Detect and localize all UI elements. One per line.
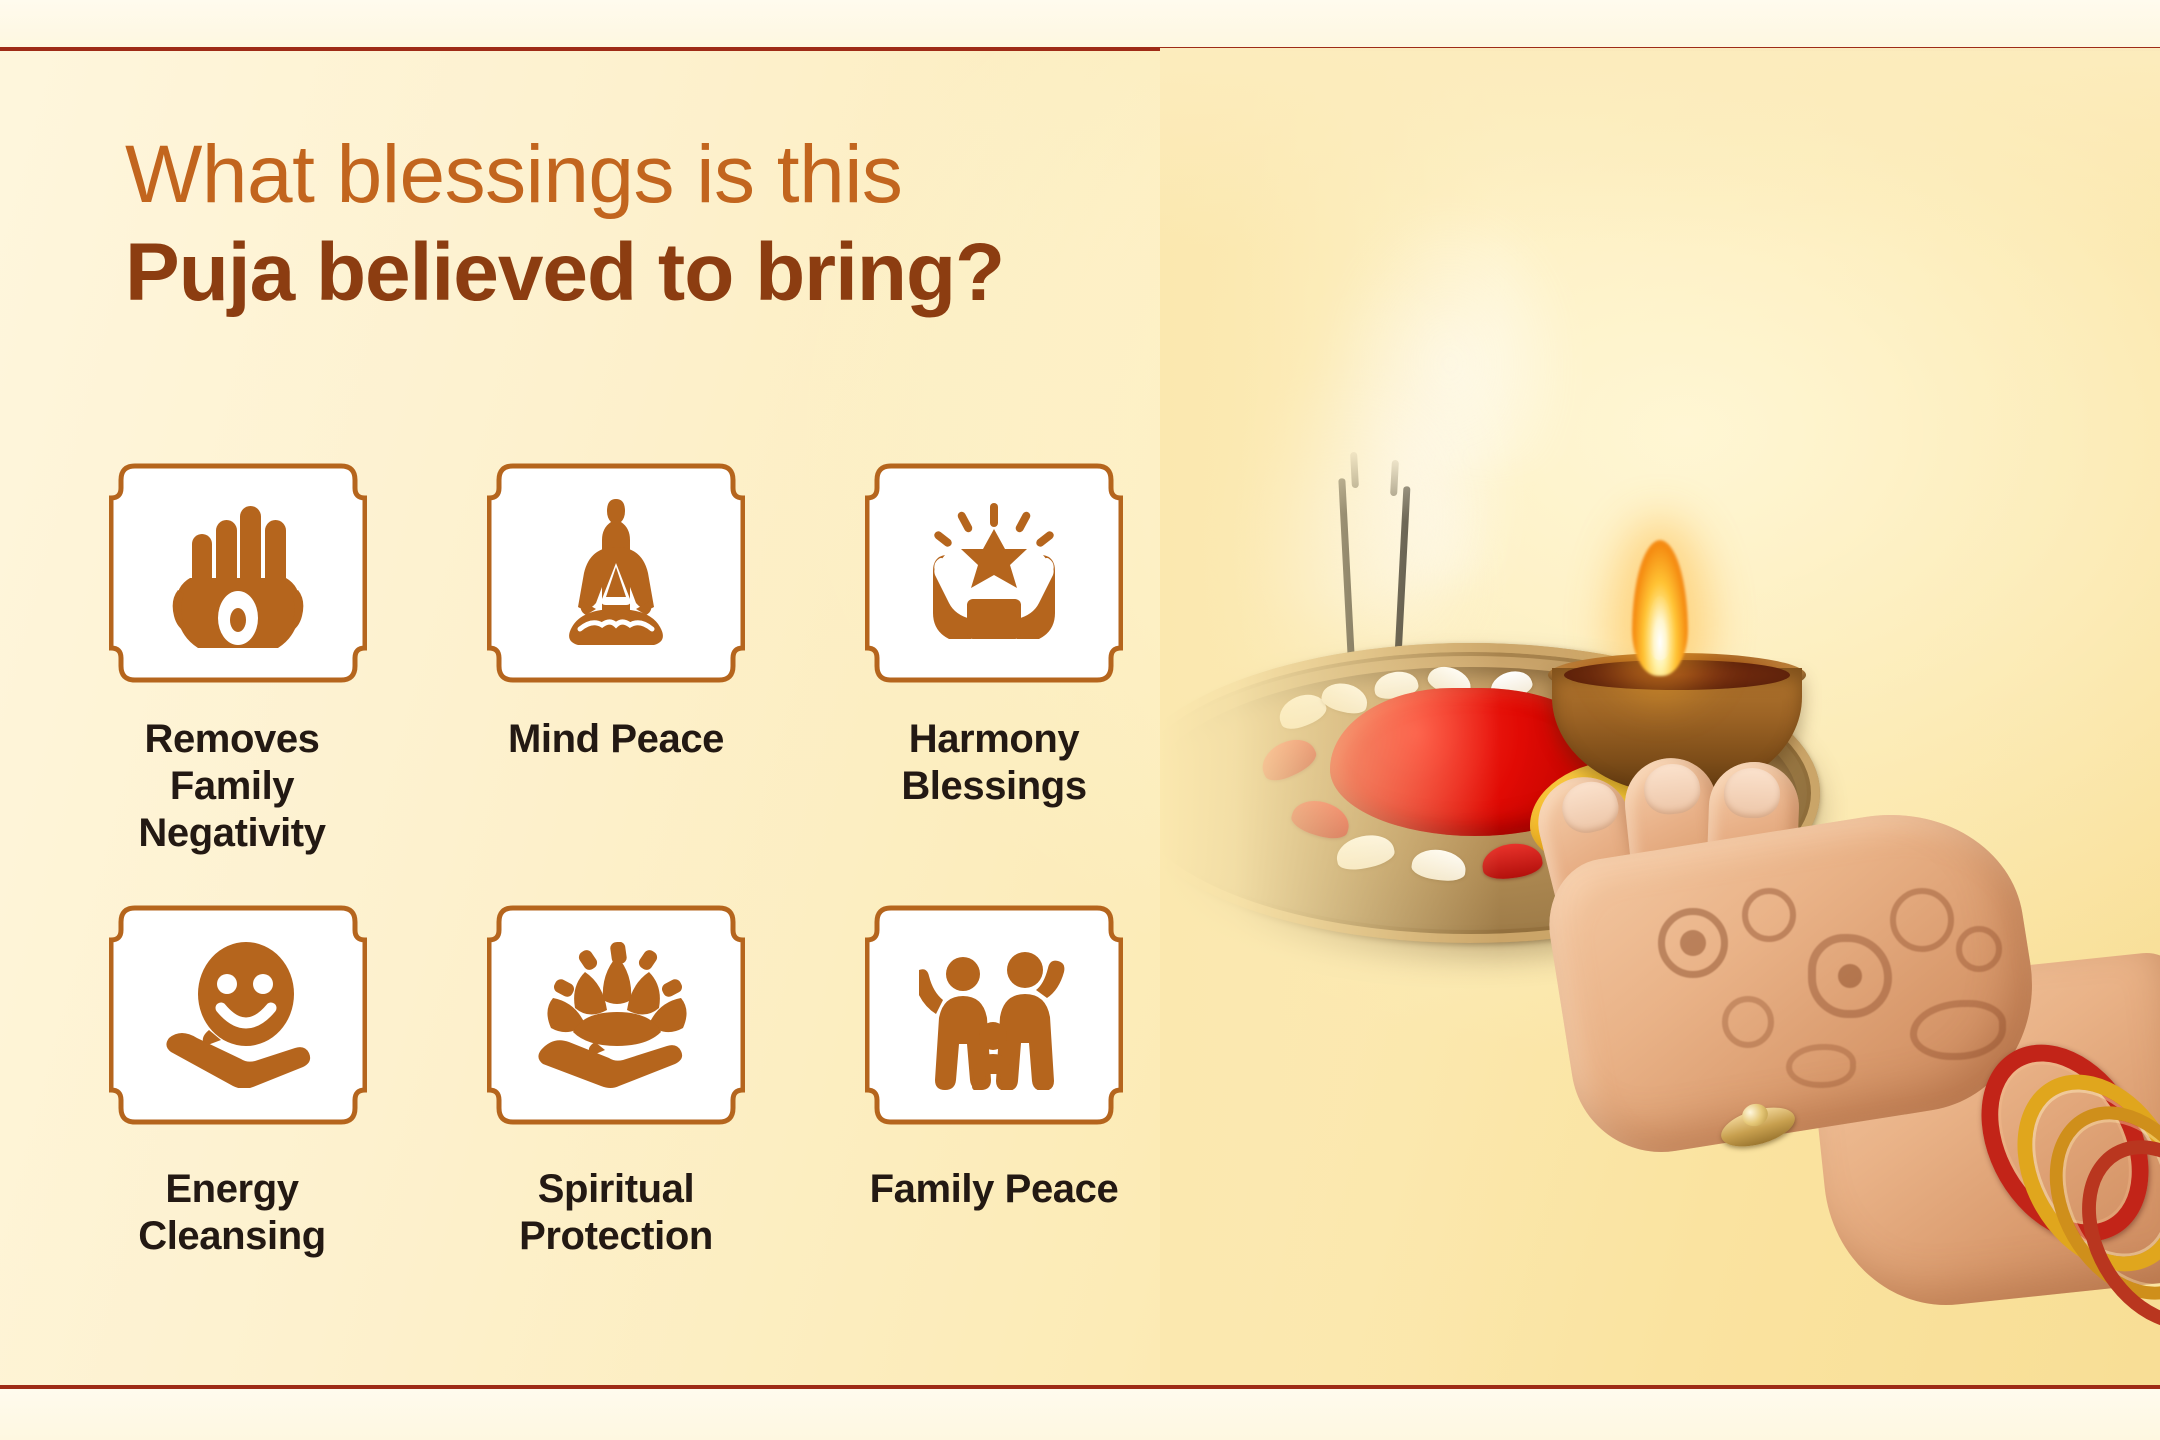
benefit-label: Harmony Blessings [844,716,1144,810]
henna-motif [1786,1044,1856,1088]
henna-motif [1722,996,1774,1048]
incense-stick-tip [1350,452,1359,488]
benefit-label: Spiritual Protection [466,1166,766,1260]
card-wrapper [486,452,746,694]
photo-top-fade [1160,48,2160,248]
hands-holding-star-icon [865,452,1123,694]
benefit-item-energy-cleansing[interactable]: Energy Cleansing [108,894,486,1260]
benefit-label: Family Peace [844,1166,1144,1213]
smiling-face-in-hand-icon [109,894,367,1136]
card-wrapper [864,894,1124,1136]
benefit-label: Energy Cleansing [82,1166,382,1260]
card-wrapper [108,452,368,694]
benefit-item-spiritual-protection[interactable]: Spiritual Protection [486,894,864,1260]
poster-canvas: What blessings is this Puja believed to … [0,0,2160,1440]
henna-motif [1838,964,1862,988]
icon-card [109,452,367,694]
icon-card [865,894,1123,1136]
benefits-grid: Removes Family Negativity [108,452,1178,1260]
incense-smoke [1270,275,1520,601]
incense-stick-tip [1390,460,1399,496]
henna-motif [1890,888,1954,952]
meditating-person-icon [487,452,745,694]
benefit-label: Removes Family Negativity [82,716,382,858]
benefit-item-mind-peace[interactable]: Mind Peace [486,452,864,858]
henna-decorated-hand [1390,738,2160,1389]
henna-motif [1956,926,2002,972]
lotus-in-hand-icon [487,894,745,1136]
henna-motif [1742,888,1796,942]
icon-card [487,452,745,694]
card-wrapper [108,894,368,1136]
icon-card [487,894,745,1136]
fingernail [1723,767,1781,819]
title-line-1: What blessings is this [125,132,1175,219]
card-wrapper [486,894,746,1136]
hamsa-hand-icon [109,452,367,694]
icon-card [109,894,367,1136]
family-figures-icon [865,894,1123,1136]
bottom-margin-band [0,1389,2160,1440]
benefit-label: Mind Peace [466,716,766,763]
puja-thali-in-henna-hand-photo [1160,48,2160,1389]
left-content-column: What blessings is this Puja believed to … [0,0,1230,1440]
page-title: What blessings is this Puja believed to … [125,132,1175,322]
benefit-item-removes-family-negativity[interactable]: Removes Family Negativity [108,452,486,858]
card-wrapper [864,452,1124,694]
title-line-2: Puja believed to bring? [125,225,1175,322]
incense-smoke [1330,208,1570,468]
icon-card [865,452,1123,694]
henna-motif [1680,930,1706,956]
